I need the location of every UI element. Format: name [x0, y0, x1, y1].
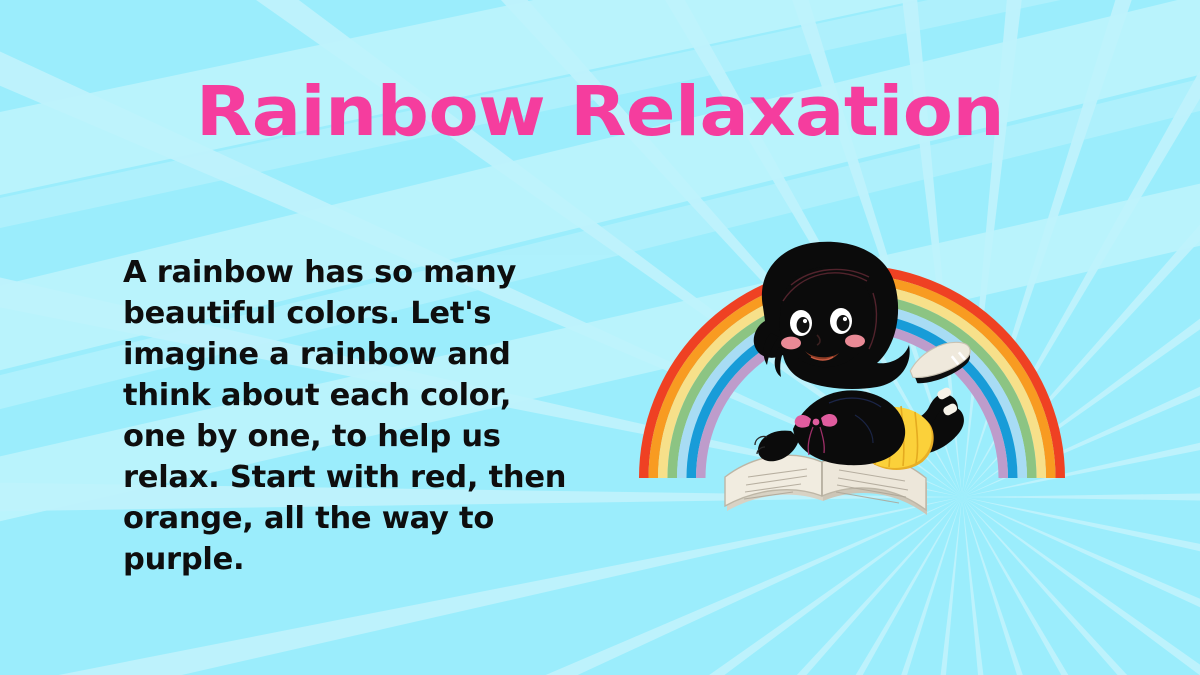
page-title: Rainbow Relaxation — [0, 76, 1200, 148]
blush-left-icon — [781, 337, 801, 350]
child-silhouette-icon — [754, 242, 977, 470]
illustration-child-reading-under-rainbow — [615, 215, 1095, 545]
blush-right-icon — [845, 335, 865, 348]
slide-canvas: Rainbow Relaxation A rainbow has so many… — [0, 0, 1200, 675]
body-paragraph: A rainbow has so many beautiful colors. … — [123, 252, 575, 580]
